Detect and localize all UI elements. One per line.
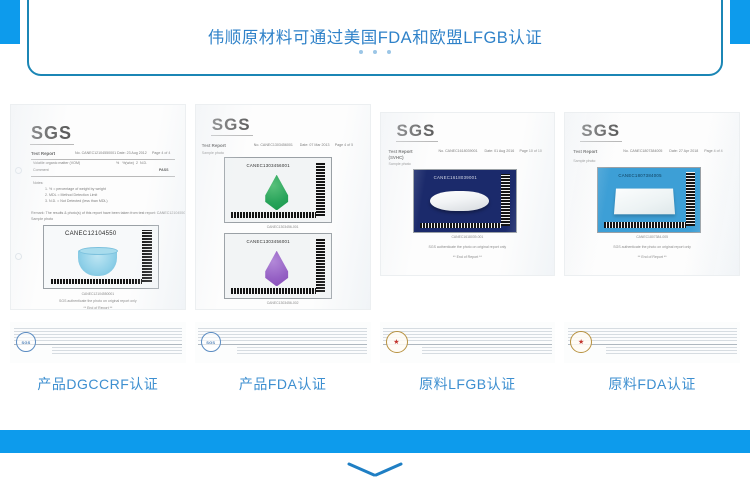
notes-label: Notes: — [33, 181, 43, 185]
certificate-item-dgccrf[interactable]: SGS Test Report No. CANEC12104550001 Dat… — [10, 104, 186, 394]
report-subtitle: (SVHC) — [389, 155, 404, 161]
photo-footnote: SGS authenticate the photo on original r… — [381, 245, 555, 249]
report-number: No. CANEC1618039001 — [439, 149, 478, 153]
photo-footnote: SGS authenticate the photo on original r… — [565, 245, 739, 249]
divider — [31, 176, 175, 177]
sample-label: Sample photo — [573, 159, 595, 163]
certification-star-stamp-icon: ★ — [386, 331, 408, 353]
sgs-logo: SGS — [581, 121, 620, 141]
certification-section: 权威认证 伟顺原材料可通过美国FDA和欧盟LFGB认证 SGS Test Rep… — [0, 0, 750, 479]
remark-line: Remark: The results & photo(s) of this r… — [31, 211, 186, 215]
logo-rule — [211, 135, 253, 136]
sample-photo-plate: CANEC1807384005 — [597, 167, 701, 233]
footer-accent-band — [0, 430, 750, 453]
sample-photo-plate: CANEC1303456001 — [224, 233, 332, 299]
certificate-footer-scan[interactable]: SGS — [195, 322, 371, 363]
certificate-footer-scan[interactable]: ★ — [564, 322, 740, 363]
report-date: Date: 07 Mar 2013 — [300, 143, 330, 147]
dot — [373, 50, 377, 54]
result-label: Comment — [33, 168, 49, 172]
end-of-report: ** End of Report ** — [565, 255, 739, 259]
sgs-stamp-icon: SGS — [201, 332, 221, 352]
sample-code: CANEC1618039001 — [414, 175, 498, 180]
header-frame: 权威认证 伟顺原材料可通过美国FDA和欧盟LFGB认证 — [27, 0, 723, 76]
certificate-scan[interactable]: SGS Test Report No. CANEC1303456001 Date… — [195, 104, 371, 310]
hole-punch-icon — [15, 253, 22, 260]
chevron-down-icon[interactable] — [347, 462, 403, 478]
certification-star-stamp-icon: ★ — [570, 331, 592, 353]
photo-footnote: SGS authenticate the photo on original r… — [11, 299, 185, 303]
logo-rule — [580, 141, 622, 142]
sample-code: CANEC1303456001 — [225, 239, 312, 244]
plate-caption: CANEC1303456-002 — [196, 301, 370, 305]
dot — [387, 50, 391, 54]
certificate-grid: SGS Test Report No. CANEC12104550001 Dat… — [10, 104, 740, 394]
sample-code: CANEC1303456001 — [225, 163, 312, 168]
sample-label: Sample photo — [202, 151, 224, 155]
logo-rule — [396, 141, 438, 142]
star-icon: ★ — [578, 339, 584, 346]
section-subtitle: 伟顺原材料可通过美国FDA和欧盟LFGB认证 — [29, 24, 721, 48]
certificate-scan[interactable]: SGS Test Report No. CANEC12104550001 Dat… — [10, 104, 186, 310]
report-date: Date: 23 Aug 2012 — [117, 151, 147, 155]
logo-rule — [30, 144, 74, 145]
accent-bar-left — [0, 0, 20, 44]
sgs-logo: SGS — [31, 123, 72, 144]
plate-caption: CANEC1303456-001 — [196, 225, 370, 229]
table-values: % %(w/w) 2 N.D. — [116, 161, 147, 165]
certificate-caption: 原料FDA认证 — [608, 374, 696, 394]
plate-caption: CANEC1618039-001 — [381, 235, 555, 239]
certificate-footer-scan[interactable]: ★ — [380, 322, 556, 363]
sample-photo-plate: CANEC1618039001 — [413, 169, 517, 233]
product-white-sheet-image — [614, 189, 675, 214]
certificate-item-material-fda[interactable]: SGS Test Report No. CANEC1807384005 Date… — [564, 104, 740, 394]
certificate-caption: 产品DGCCRF认证 — [37, 374, 158, 394]
report-title: Test Report — [202, 143, 226, 149]
certificate-item-lfgb[interactable]: SGS Test Report (SVHC) No. CANEC16180390… — [380, 104, 556, 394]
plate-caption: CANEC1807384-005 — [565, 235, 739, 239]
report-number: No. CANEC1303456001 — [254, 143, 293, 147]
divider — [31, 159, 175, 160]
certificate-caption: 产品FDA认证 — [239, 374, 327, 394]
report-page: Page 4 of 4 — [152, 151, 170, 155]
sample-photo-plate: CANEC1303456001 — [224, 157, 332, 223]
table-row-label: Volatile organic matter (VOM) — [33, 161, 80, 165]
product-white-pillow-image — [430, 191, 489, 211]
report-date: Date: 27 Apr 2018 — [669, 149, 698, 153]
star-icon: ★ — [393, 339, 399, 346]
note-line: 2. MDL = Method Detection Limit — [45, 193, 97, 197]
sample-code: CANEC12104550 — [44, 231, 137, 237]
sgs-logo: SGS — [212, 115, 251, 135]
sample-photo-plate: CANEC12104550 — [43, 225, 159, 289]
report-page: Page 4 of 5 — [335, 143, 353, 147]
end-of-report: ** End of Report ** — [381, 255, 555, 259]
sample-label: Sample photo — [389, 162, 411, 166]
report-page: Page 10 of 10 — [520, 149, 542, 153]
report-number: No. CANEC12104550001 — [75, 151, 116, 155]
certificate-scan[interactable]: SGS Test Report (SVHC) No. CANEC16180390… — [380, 112, 556, 276]
hole-punch-icon — [15, 167, 22, 174]
sample-label: Sample photo — [31, 217, 53, 221]
report-date: Date: 01 Aug 2016 — [485, 149, 515, 153]
certificate-footer-scan[interactable]: SGS — [10, 322, 186, 363]
dot — [359, 50, 363, 54]
report-page: Page 4 of 4 — [704, 149, 722, 153]
certificate-item-product-fda[interactable]: SGS Test Report No. CANEC1303456001 Date… — [195, 104, 371, 394]
plate-caption: CANEC12104550001 — [11, 292, 185, 296]
report-number: No. CANEC1807384005 — [623, 149, 662, 153]
report-title: Test Report — [573, 149, 597, 155]
sgs-logo: SGS — [397, 121, 436, 141]
certificate-caption: 原料LFGB认证 — [419, 374, 516, 394]
sgs-stamp-icon: SGS — [16, 332, 36, 352]
report-title: Test Report — [31, 151, 55, 157]
end-of-report: ** End of Report ** — [11, 306, 185, 310]
accent-bar-right — [730, 0, 750, 44]
note-line: 3. N.D. = Not Detected (less than MDL) — [45, 199, 108, 203]
result-value: PASS — [159, 168, 169, 172]
note-line: 1. % = percentage of weight by weight — [45, 187, 106, 191]
certificate-scan[interactable]: SGS Test Report No. CANEC1807384005 Date… — [564, 112, 740, 276]
decorative-dots — [29, 50, 721, 54]
sample-code: CANEC1807384005 — [598, 173, 682, 178]
